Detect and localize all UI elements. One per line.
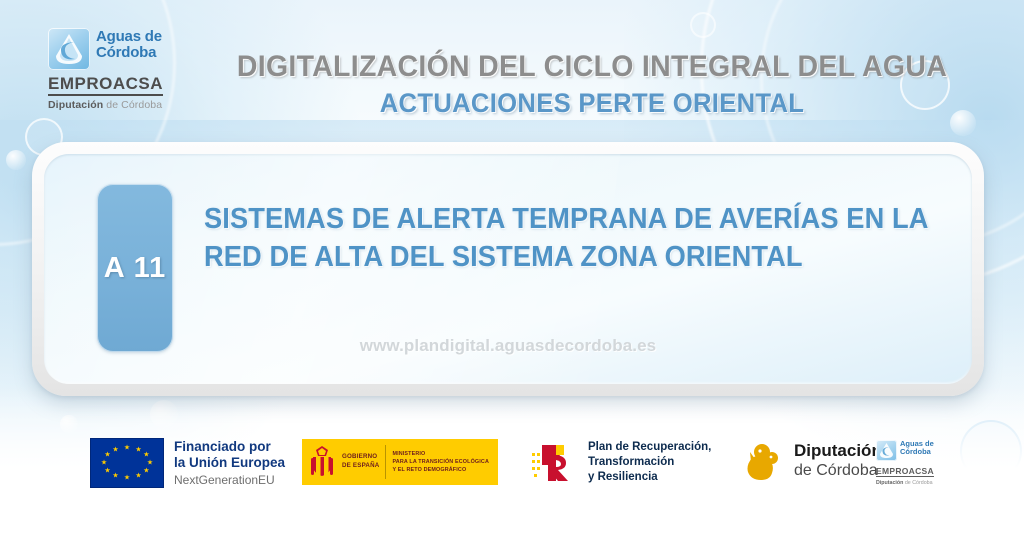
- prtr-line2: Transformación: [588, 455, 711, 470]
- aguas-footer-line2: Córdoba: [900, 448, 934, 456]
- aguas-footer-org-rest: de Córdoba: [903, 480, 932, 486]
- aguas-de-cordoba-droplet-icon: [876, 440, 897, 461]
- action-title-line1: SISTEMAS DE ALERTA TEMPRANA DE AVERÍAS E…: [204, 200, 888, 238]
- brand-name: Aguas de Córdoba: [96, 28, 162, 60]
- eu-line3: NextGenerationEU: [174, 473, 285, 487]
- eu-line2: la Unión Europea: [174, 455, 285, 471]
- brand-name-line1: Aguas de: [96, 29, 162, 44]
- eu-line1: Financiado por: [174, 439, 285, 455]
- website-url[interactable]: www.plandigital.aguasdecordoba.es: [44, 336, 972, 356]
- brand-org-bold: Diputación: [48, 99, 103, 111]
- gobierno-text: GOBIERNO DE ESPAÑA: [342, 453, 379, 471]
- brand-logo: Aguas de Córdoba EMPROACSA Diputación de…: [48, 28, 198, 111]
- aguas-footer-name: Aguas de Córdoba: [900, 440, 934, 456]
- aguas-de-cordoba-droplet-icon: [48, 28, 90, 70]
- prtr-logo: Plan de Recuperación, Transformación y R…: [528, 440, 711, 486]
- prtr-text: Plan de Recuperación, Transformación y R…: [588, 440, 711, 486]
- spain-coat-of-arms-icon: [307, 445, 337, 479]
- eu-funding-logo: ★ ★ ★ ★ ★ ★ ★ ★ ★ ★ ★ ★ Financiado por l…: [90, 438, 285, 488]
- ministerio-text: MINISTERIO PARA LA TRANSICIÓN ECOLÓGICA …: [392, 450, 489, 474]
- prtr-line1: Plan de Recuperación,: [588, 440, 711, 455]
- brand-org-rest: de Córdoba: [103, 99, 162, 111]
- emproacsa-footer-wordmark: EMPROACSA: [876, 467, 934, 477]
- european-union-flag-icon: ★ ★ ★ ★ ★ ★ ★ ★ ★ ★ ★ ★: [90, 438, 164, 488]
- diputacion-line2: de Córdoba: [794, 462, 882, 480]
- ministerio-line2: PARA LA TRANSICIÓN ECOLÓGICA: [392, 458, 489, 466]
- eu-funding-text: Financiado por la Unión Europea NextGene…: [174, 439, 285, 486]
- gobierno-divider: [385, 445, 386, 479]
- page-subtitle: ACTUACIONES PERTE ORIENTAL: [201, 88, 984, 119]
- gobierno-de-espana-logo: GOBIERNO DE ESPAÑA MINISTERIO PARA LA TR…: [302, 439, 498, 485]
- main-panel: A 11 SISTEMAS DE ALERTA TEMPRANA DE AVER…: [32, 142, 984, 396]
- brand-org-line: Diputación de Córdoba: [48, 99, 198, 111]
- aguas-de-cordoba-footer-logo: Aguas de Córdoba EMPROACSA Diputación de…: [876, 440, 934, 486]
- gobierno-yellow-box: GOBIERNO DE ESPAÑA MINISTERIO PARA LA TR…: [302, 439, 498, 485]
- diputacion-cordoba-emblem-icon: [730, 438, 786, 484]
- prtr-line3: y Resiliencia: [588, 470, 711, 485]
- gobierno-line2: DE ESPAÑA: [342, 462, 379, 471]
- action-code-badge: A 11: [97, 184, 173, 352]
- brand-name-line2: Córdoba: [96, 45, 162, 60]
- action-title: SISTEMAS DE ALERTA TEMPRANA DE AVERÍAS E…: [204, 200, 888, 277]
- ministerio-line3: Y EL RETO DEMOGRÁFICO: [392, 466, 489, 474]
- action-code-label: A 11: [104, 252, 167, 285]
- aguas-footer-org-line: Diputación de Córdoba: [876, 480, 934, 486]
- main-panel-inner: A 11 SISTEMAS DE ALERTA TEMPRANA DE AVER…: [44, 154, 972, 384]
- diputacion-line1: Diputación: [794, 442, 882, 461]
- page-title: DIGITALIZACIÓN DEL CICLO INTEGRAL DEL AG…: [201, 50, 984, 84]
- prtr-flag-r-icon: [528, 441, 580, 485]
- diputacion-cordoba-logo: Diputación de Córdoba: [730, 438, 882, 484]
- ministerio-line1: MINISTERIO: [392, 450, 489, 458]
- page-header: Aguas de Córdoba EMPROACSA Diputación de…: [0, 0, 1024, 138]
- header-titles: DIGITALIZACIÓN DEL CICLO INTEGRAL DEL AG…: [180, 50, 1004, 119]
- gobierno-line1: GOBIERNO: [342, 453, 379, 462]
- footer-logo-bar: ★ ★ ★ ★ ★ ★ ★ ★ ★ ★ ★ ★ Financiado por l…: [0, 432, 1024, 502]
- aguas-footer-org-bold: Diputación: [876, 480, 903, 486]
- action-title-line2: RED DE ALTA DEL SISTEMA ZONA ORIENTAL: [204, 238, 888, 276]
- diputacion-text: Diputación de Córdoba: [794, 442, 882, 480]
- emproacsa-wordmark: EMPROACSA: [48, 75, 163, 96]
